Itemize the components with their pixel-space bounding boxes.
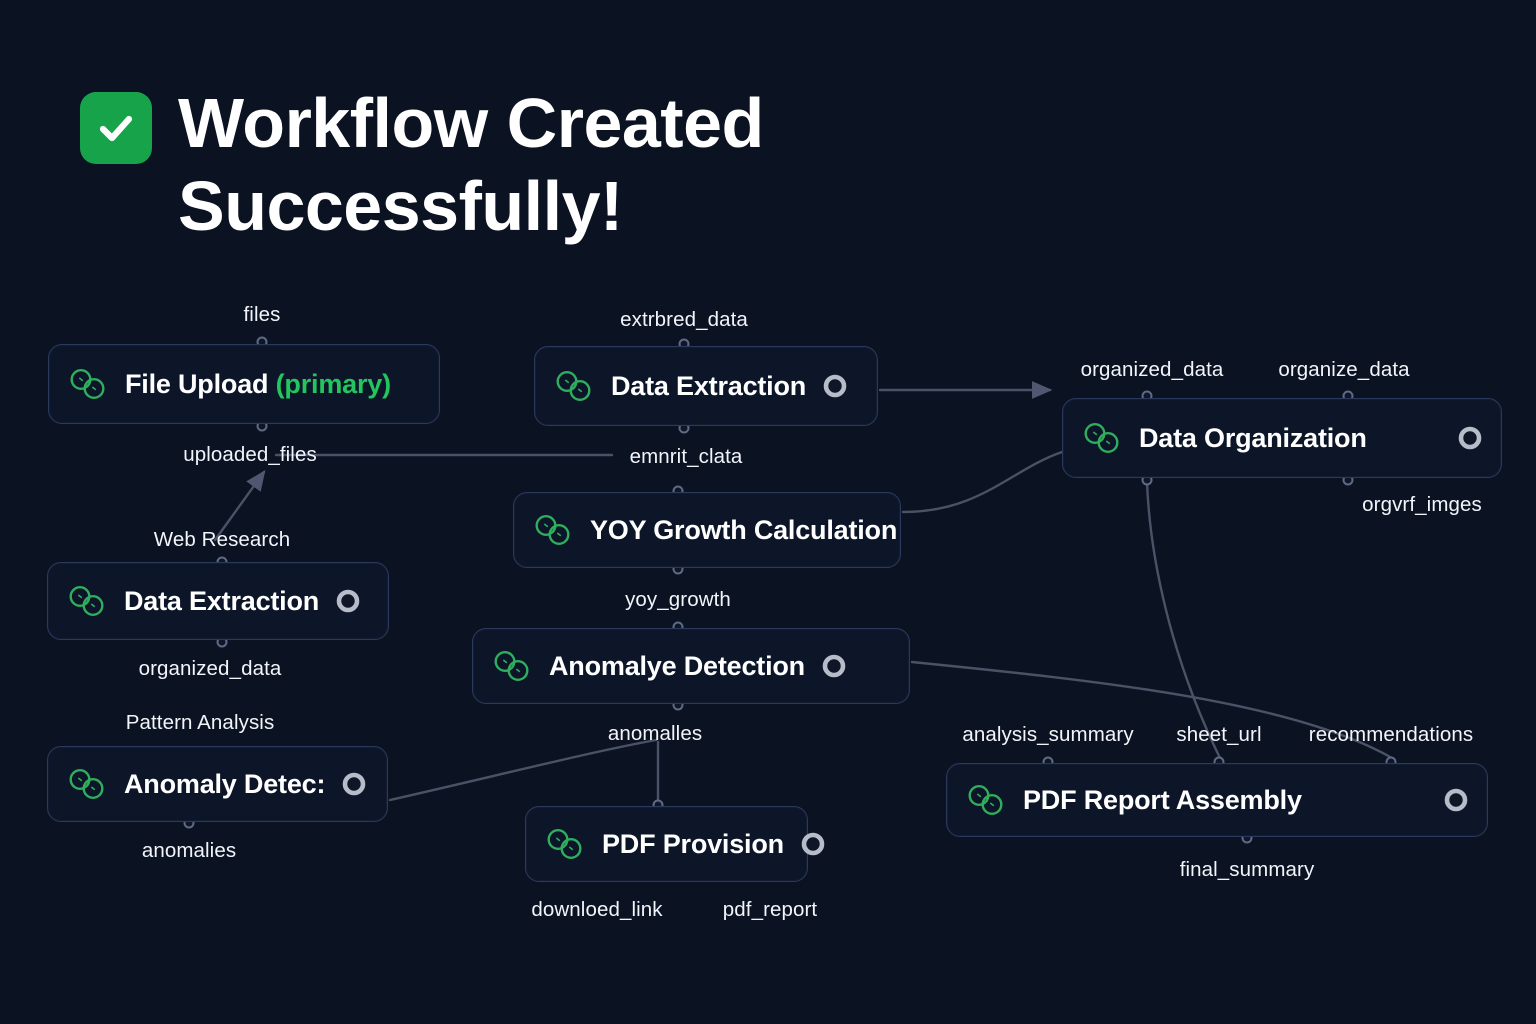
edge-anomaly-detec-to-pdf-provision[interactable] — [390, 740, 656, 800]
node-title: Data Organization — [1139, 423, 1367, 454]
node-icon-wrap — [67, 367, 111, 401]
port-label: uploaded_files — [183, 443, 317, 467]
port-label: Web Research — [154, 528, 290, 552]
node-anomaly-detec-left[interactable]: Anomaly Detec: — [47, 746, 388, 822]
port-label: emnrit_clata — [630, 445, 743, 469]
node-icon-wrap — [66, 584, 110, 618]
node-title-text: Data Extraction — [611, 371, 806, 401]
port-label: sheet_url — [1176, 723, 1261, 747]
node-title: PDF Provision — [602, 829, 784, 860]
port-label: pdf_report — [723, 898, 817, 922]
port-label: anomalles — [608, 722, 702, 746]
port-label: recommendations — [1309, 723, 1473, 747]
workflow-node-icon — [66, 584, 110, 618]
node-icon-wrap — [965, 783, 1009, 817]
node-title: Anomalye Detection — [549, 651, 805, 682]
workflow-node-icon — [1081, 421, 1125, 455]
workflow-node-icon — [491, 649, 535, 683]
edge-yoy-growth-to-data-organization[interactable] — [903, 452, 1062, 512]
port-label: anomalies — [142, 839, 236, 863]
workflow-node-icon — [544, 827, 588, 861]
node-status-ring[interactable] — [1441, 787, 1469, 813]
node-title-text: PDF Provision — [602, 829, 784, 859]
status-ring-icon[interactable] — [800, 831, 826, 857]
node-status-ring[interactable] — [819, 653, 847, 679]
port-label: yoy_growth — [625, 588, 731, 612]
status-ring-icon[interactable] — [1443, 787, 1469, 813]
node-file-upload[interactable]: File Upload (primary) — [48, 344, 440, 424]
node-title-text: Anomaly Detec: — [124, 769, 325, 799]
port-label: orgvrf_imges — [1362, 493, 1482, 517]
node-title: YOY Growth Calculation — [590, 515, 897, 546]
node-pdf-report-assembly[interactable]: PDF Report Assembly — [946, 763, 1488, 837]
port-label: downloed_link — [531, 898, 662, 922]
status-ring-icon[interactable] — [1457, 425, 1483, 451]
port-label: extrbred_data — [620, 308, 748, 332]
node-status-ring[interactable] — [1455, 425, 1483, 451]
node-title-text: PDF Report Assembly — [1023, 785, 1302, 815]
node-data-organization[interactable]: Data Organization — [1062, 398, 1502, 478]
workflow-node-icon — [553, 369, 597, 403]
node-status-ring[interactable] — [820, 373, 848, 399]
node-title: Data Extraction — [124, 586, 319, 617]
workflow-canvas: Workflow Created Successfully! filesextr… — [0, 0, 1536, 1024]
node-title: File Upload (primary) — [125, 369, 391, 400]
node-status-ring[interactable] — [798, 831, 826, 857]
node-title-text: Data Extraction — [124, 586, 319, 616]
node-icon-wrap — [553, 369, 597, 403]
node-data-extraction-left[interactable]: Data Extraction — [47, 562, 389, 640]
port-label: organized_data — [1081, 358, 1224, 382]
status-ring-icon[interactable] — [341, 771, 367, 797]
node-icon-wrap — [491, 649, 535, 683]
node-yoy-growth-calculation[interactable]: YOY Growth Calculation — [513, 492, 901, 568]
node-title: PDF Report Assembly — [1023, 785, 1302, 816]
node-title-suffix: (primary) — [276, 369, 391, 399]
port-label: organize_data — [1278, 358, 1409, 382]
port-label: Pattern Analysis — [126, 711, 275, 735]
port-label: organized_data — [139, 657, 282, 681]
node-icon-wrap — [1081, 421, 1125, 455]
success-header: Workflow Created Successfully! — [80, 82, 764, 247]
node-pdf-provision[interactable]: PDF Provision — [525, 806, 808, 882]
node-status-ring[interactable] — [333, 588, 361, 614]
node-title-text: YOY Growth Calculation — [590, 515, 897, 545]
page-title: Workflow Created Successfully! — [178, 82, 764, 247]
workflow-node-icon — [965, 783, 1009, 817]
node-title-text: File Upload — [125, 369, 268, 399]
node-anomalye-detection[interactable]: Anomalye Detection — [472, 628, 910, 704]
node-data-extraction-top[interactable]: Data Extraction — [534, 346, 878, 426]
node-icon-wrap — [544, 827, 588, 861]
workflow-node-icon — [67, 367, 111, 401]
port-label: analysis_summary — [962, 723, 1133, 747]
port-label: final_summary — [1180, 858, 1315, 882]
status-ring-icon[interactable] — [821, 653, 847, 679]
port-label: files — [244, 303, 281, 327]
status-ring-icon[interactable] — [822, 373, 848, 399]
workflow-node-icon — [532, 513, 576, 547]
node-title: Data Extraction — [611, 371, 806, 402]
node-title-text: Data Organization — [1139, 423, 1367, 453]
edge-data-org-to-sheet-url[interactable] — [1147, 482, 1220, 758]
node-icon-wrap — [66, 767, 110, 801]
node-icon-wrap — [532, 513, 576, 547]
status-ring-icon[interactable] — [335, 588, 361, 614]
workflow-node-icon — [66, 767, 110, 801]
node-title: Anomaly Detec: — [124, 769, 325, 800]
check-icon — [80, 92, 152, 164]
node-title-text: Anomalye Detection — [549, 651, 805, 681]
node-status-ring[interactable] — [339, 771, 367, 797]
